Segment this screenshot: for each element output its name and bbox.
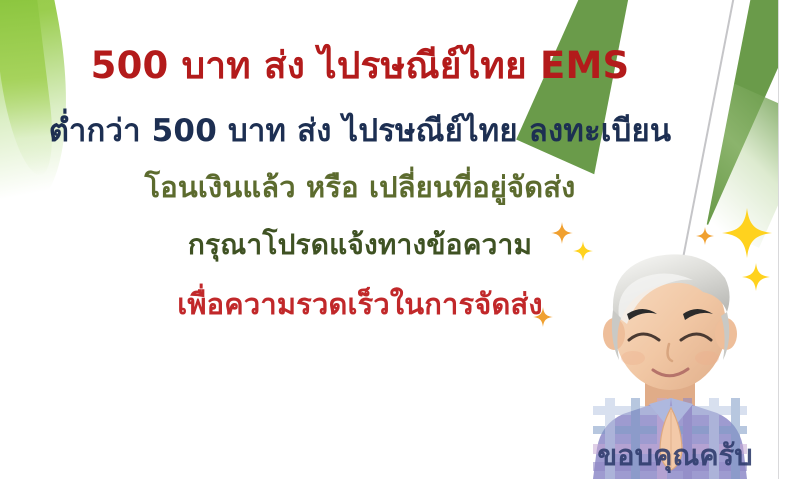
right-edge-rail [778, 0, 786, 479]
line-notify-by-message: กรุณาโปรดแจ้งทางข้อความ [0, 223, 720, 267]
line-shipping-registered: ต่ำกว่า 500 บาท ส่ง ไปรษณีย์ไทย ลงทะเบีย… [0, 105, 720, 155]
line-shipping-ems: 500 บาท ส่ง ไปรษณีย์ไทย EMS [0, 36, 720, 95]
sparkle-yellow-large-icon [722, 208, 772, 258]
sparkle-yellow-small-2-icon [742, 263, 770, 291]
line-transfer-or-address: โอนเงินแล้ว หรือ เปลี่ยนที่อยู่จัดส่ง [0, 164, 720, 210]
line-for-fast-delivery: เพื่อความรวดเร็วในการจัดส่ง [0, 281, 720, 327]
promo-poster: 500 บาท ส่ง ไปรษณีย์ไทย EMS ต่ำกว่า 500 … [0, 0, 786, 479]
thanks-text: ขอบคุณครับ [575, 432, 775, 478]
poster-text-block: 500 บาท ส่ง ไปรษณีย์ไทย EMS ต่ำกว่า 500 … [0, 0, 720, 327]
